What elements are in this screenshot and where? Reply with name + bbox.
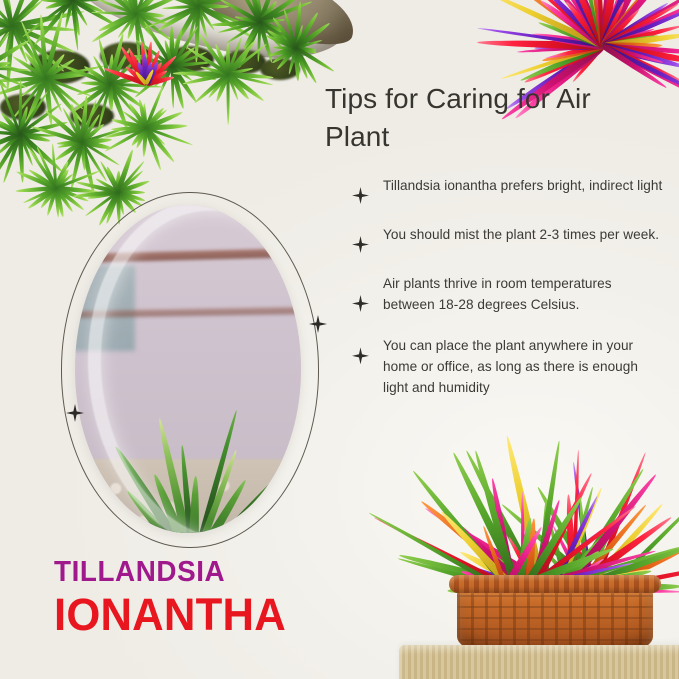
list-item-text: Tillandsia ionantha prefers bright, indi… (383, 176, 662, 197)
sparkle-star-icon (352, 236, 369, 253)
brand-genus: TILLANDSIA (54, 558, 284, 587)
bottom-right-basket-plant (405, 459, 679, 679)
list-item: You should mist the plant 2-3 times per … (352, 225, 664, 253)
sparkle-star-icon (352, 347, 369, 364)
list-item-text: Air plants thrive in room temperatures b… (383, 274, 664, 315)
wicker-basket-rim (449, 575, 661, 593)
brand-title: TILLANDSIA IONANTHA (54, 558, 293, 639)
care-tips-list: Tillandsia ionantha prefers bright, indi… (352, 176, 664, 419)
list-item-text: You should mist the plant 2-3 times per … (383, 225, 659, 246)
sparkle-star-icon (352, 295, 369, 312)
sparkle-star-icon (352, 187, 369, 204)
woven-mat (399, 645, 679, 679)
top-left-tillandsia-cluster (0, 0, 380, 224)
page-title: Tips for Caring for Air Plant (325, 80, 645, 156)
air-plant-photo (75, 205, 301, 533)
list-item: You can place the plant anywhere in your… (352, 336, 664, 398)
poster-canvas: Tips for Caring for Air Plant Tillandsia… (0, 0, 679, 679)
list-item: Air plants thrive in room temperatures b… (352, 274, 664, 315)
list-item: Tillandsia ionantha prefers bright, indi… (352, 176, 664, 204)
list-item-text: You can place the plant anywhere in your… (383, 336, 664, 398)
brand-species: IONANTHA (54, 591, 286, 639)
